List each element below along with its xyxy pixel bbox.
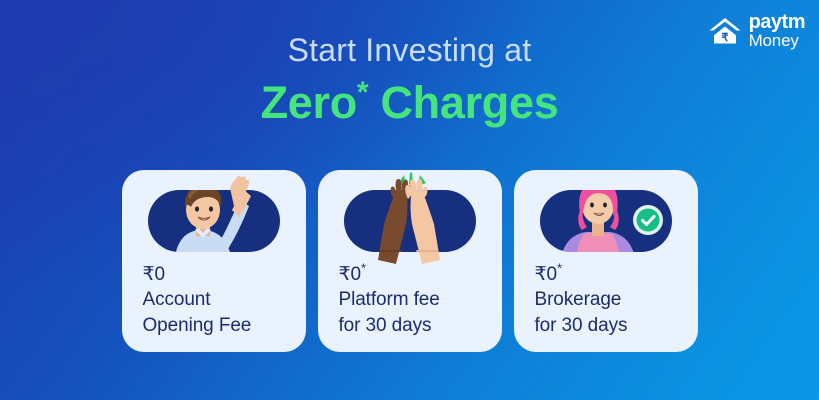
card-label-line-1: Platform fee — [339, 287, 492, 312]
person-with-verified-badge-illustration — [514, 172, 698, 264]
card-label-line-1: Brokerage — [535, 287, 688, 312]
offer-card-account-opening-fee[interactable]: ₹0 Account Opening Fee — [122, 170, 306, 352]
verified-check-badge — [633, 205, 663, 235]
promo-banner: ₹ paytm Money Start Investing at Zero* C… — [0, 0, 819, 400]
headline-asterisk: * — [357, 76, 368, 109]
headline-line-2: Zero* Charges — [0, 75, 819, 131]
card-price: ₹0 — [143, 262, 296, 287]
card-price-value: ₹0 — [535, 264, 557, 285]
offer-card-list: ₹0 Account Opening Fee — [0, 170, 819, 352]
card-price-asterisk: * — [361, 261, 366, 276]
card-text-block: ₹0* Platform fee for 30 days — [339, 262, 492, 338]
card-price: ₹0* — [339, 262, 492, 287]
headline-charges-word: Charges — [368, 77, 558, 128]
high-five-hands-illustration — [318, 172, 502, 264]
headline-line-1: Start Investing at — [0, 32, 819, 69]
card-text-block: ₹0* Brokerage for 30 days — [535, 262, 688, 338]
offer-card-platform-fee[interactable]: ₹0* Platform fee for 30 days — [318, 170, 502, 352]
headline-zero-word: Zero — [261, 77, 357, 128]
waving-person-illustration — [122, 172, 306, 264]
card-label-line-2: Opening Fee — [143, 313, 296, 338]
card-label-line-2: for 30 days — [339, 313, 492, 338]
headline: Start Investing at Zero* Charges — [0, 32, 819, 131]
card-label-line-1: Account — [143, 287, 296, 312]
card-text-block: ₹0 Account Opening Fee — [143, 262, 296, 338]
card-price-asterisk: * — [557, 261, 562, 276]
card-price-value: ₹0 — [339, 264, 361, 285]
card-price-value: ₹0 — [143, 264, 165, 285]
logo-wordmark-primary: paytm — [749, 13, 805, 32]
card-price: ₹0* — [535, 262, 688, 287]
card-label-line-2: for 30 days — [535, 313, 688, 338]
offer-card-brokerage[interactable]: ₹0* Brokerage for 30 days — [514, 170, 698, 352]
